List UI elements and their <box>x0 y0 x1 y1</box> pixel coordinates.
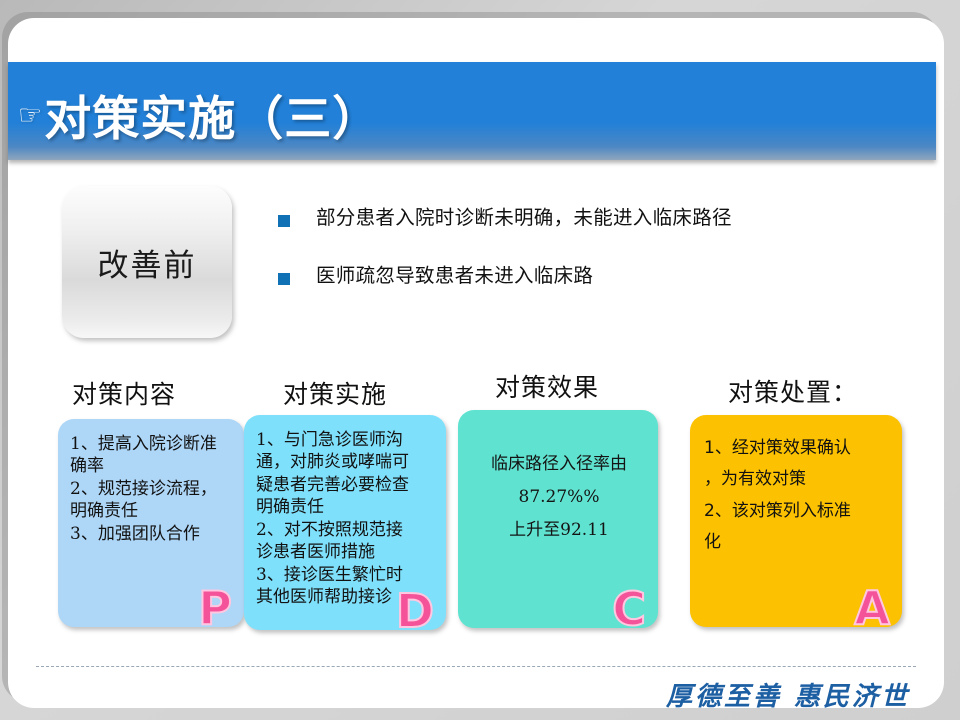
list-item: 医师疏忽导致患者未进入临床路 <box>278 264 898 288</box>
footer-divider <box>36 666 916 667</box>
footer-slogan: 厚德至善 惠民济世 <box>666 676 910 713</box>
square-bullet-icon <box>278 273 290 285</box>
pdca-letter-d: D <box>396 588 434 634</box>
pdca-letter-a: A <box>854 585 890 631</box>
pdca-card-d: 1、与门急诊医师沟 通，对肺炎或哮喘可 疑患者完善必要检查 明确责任 2、对不按… <box>244 415 446 630</box>
bullet-text: 医师疏忽导致患者未进入临床路 <box>316 264 593 288</box>
pdca-card-c: 临床路径入径率由 87.27%% 上升至92.11 C <box>458 410 658 628</box>
pointing-hand-icon: ☞ <box>18 102 42 129</box>
pdca-letter-p: P <box>198 585 232 631</box>
column-heading-disposal: 对策处置： <box>728 373 858 409</box>
column-heading-content: 对策内容 <box>72 375 176 411</box>
column-heading-effect: 对策效果 <box>495 368 599 404</box>
title-banner: ☞ 对策实施（三） <box>8 62 936 160</box>
title-banner-content: ☞ 对策实施（三） <box>8 62 936 160</box>
column-heading-implementation: 对策实施 <box>283 375 387 411</box>
pdca-card-a: 1、经对策效果确认 ，为有效对策 2、该对策列入标准 化 A <box>690 415 902 627</box>
slide-canvas: ☞ 对策实施（三） 改善前 部分患者入院时诊断未明确，未能进入临床路径 医师疏忽… <box>0 0 960 720</box>
before-improvement-label: 改善前 <box>98 240 197 285</box>
page-title: 对策实施（三） <box>44 80 380 149</box>
pdca-letter-c: C <box>612 586 646 632</box>
square-bullet-icon <box>278 215 290 227</box>
pdca-card-p: 1、提高入院诊断准 确率 2、规范接诊流程， 明确责任 3、加强团队合作 P <box>58 419 244 627</box>
before-improvement-box: 改善前 <box>62 186 232 338</box>
list-item: 部分患者入院时诊断未明确，未能进入临床路径 <box>278 206 898 230</box>
issue-bullet-list: 部分患者入院时诊断未明确，未能进入临床路径 医师疏忽导致患者未进入临床路 <box>278 206 898 323</box>
bullet-text: 部分患者入院时诊断未明确，未能进入临床路径 <box>316 206 732 230</box>
